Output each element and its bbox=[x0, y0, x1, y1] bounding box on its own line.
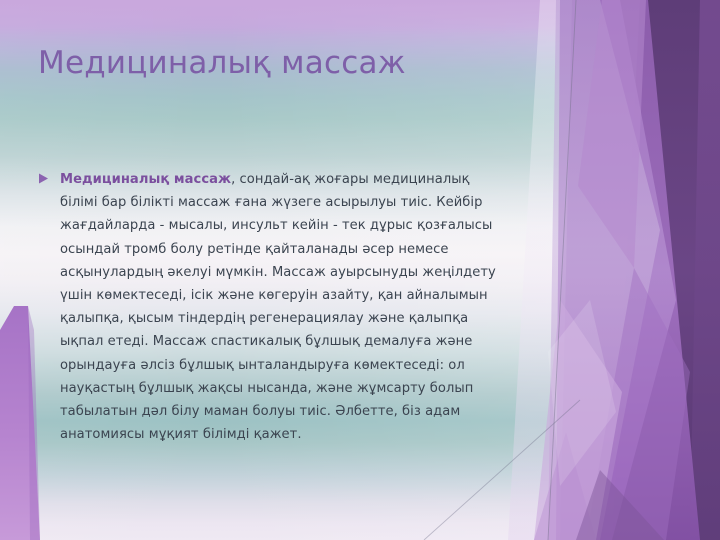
bullet-lead-term: Медициналық массаж bbox=[60, 172, 231, 187]
bullet-list-item: Медициналық массаж, сондай-ақ жоғары мед… bbox=[38, 168, 508, 446]
triangle-right-bullet-icon bbox=[38, 168, 60, 184]
bullet-paragraph: Медициналық массаж, сондай-ақ жоғары мед… bbox=[60, 168, 508, 446]
slide-title: Медициналық массаж bbox=[38, 44, 558, 82]
bullet-body-text: , сондай-ақ жоғары медициналық білімі ба… bbox=[60, 172, 496, 442]
slide-canvas: Медициналық массаж Медициналық массаж, с… bbox=[0, 0, 720, 540]
slide-body: Медициналық массаж, сондай-ақ жоғары мед… bbox=[38, 168, 508, 446]
